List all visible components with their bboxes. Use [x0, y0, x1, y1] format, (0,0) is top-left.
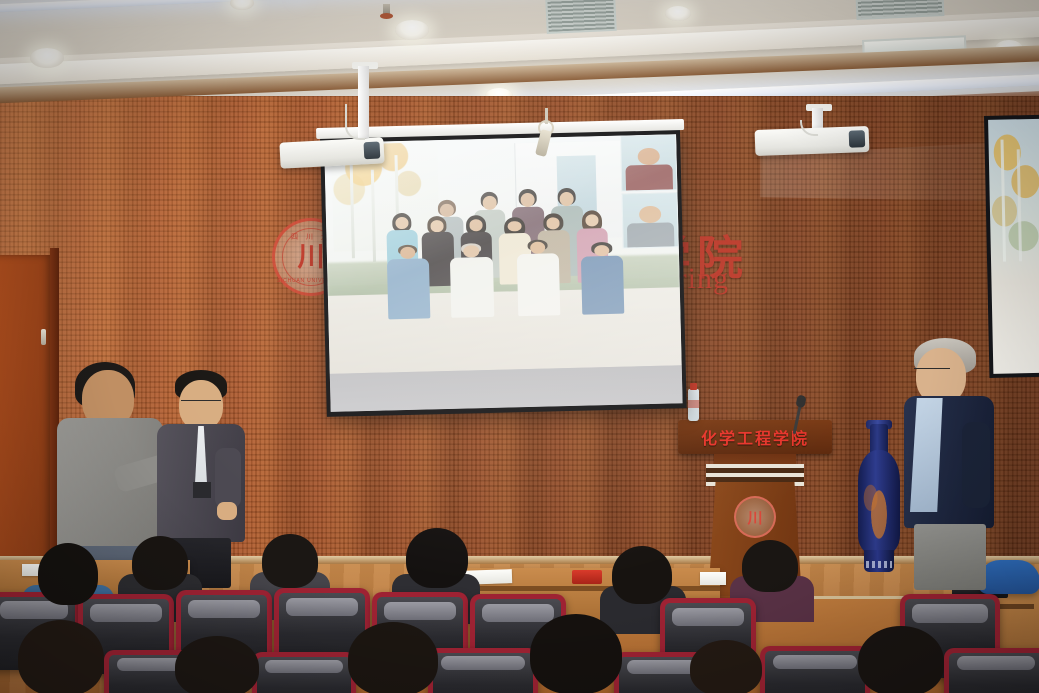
glasses-icon: [914, 368, 950, 373]
papers-on-desk[interactable]: [700, 572, 726, 585]
audience-member-head: [18, 620, 104, 693]
speaker-navy-blazer: [900, 338, 996, 590]
lecture-hall-photo: 四 川 大 川 SICHUAN UNIVERSITY 学院 eering: [0, 0, 1039, 693]
seat-headrest: [672, 608, 744, 626]
speaker-belt: [193, 482, 211, 498]
seat-headrest: [384, 602, 456, 620]
projector-lens: [363, 142, 380, 160]
slide-foliage: [1009, 220, 1039, 251]
seat-headrest: [912, 604, 988, 623]
podium-sign: 化学工程学院: [678, 420, 832, 454]
screen-surface: [324, 134, 682, 412]
seat-back: [760, 646, 870, 693]
slide-lower-blank-area: [330, 366, 683, 412]
seat-headrest: [188, 600, 260, 618]
seat-back: [944, 648, 1039, 693]
seat-headrest: [265, 660, 344, 673]
door-handle[interactable]: [41, 329, 46, 345]
podium-seal-glyph: 川: [747, 507, 762, 528]
speaker-arm-in-pocket: [962, 422, 990, 508]
auditorium-seat[interactable]: [428, 648, 538, 693]
audience-member-head: [175, 636, 259, 693]
audience-member-head: [530, 614, 622, 693]
blue-porcelain-vase: [855, 424, 903, 582]
auditorium-seat[interactable]: [760, 646, 870, 693]
projector-left: [279, 137, 384, 168]
audience-member-head: [132, 536, 188, 590]
speaker-head: [179, 380, 223, 430]
red-book-on-desk[interactable]: [572, 570, 602, 584]
seat-headrest: [957, 656, 1036, 670]
seat-headrest: [441, 656, 525, 670]
seat-headrest: [286, 598, 358, 616]
slide-group-photo: [324, 134, 682, 374]
speaker-hand: [217, 502, 237, 520]
auditorium-seat[interactable]: [252, 652, 356, 693]
downlight: [665, 6, 691, 21]
seat-headrest: [482, 604, 554, 622]
speaker-legs-trousers: [914, 524, 986, 590]
water-bottle[interactable]: [688, 389, 699, 421]
speaker-arm: [215, 448, 241, 508]
seat-headrest: [773, 655, 857, 669]
audience-member-head: [858, 626, 944, 693]
downlight: [395, 20, 429, 40]
downlight: [30, 48, 64, 68]
screen-surface-secondary: [988, 119, 1039, 374]
sprinkler-head: [383, 4, 390, 18]
auditorium-seat[interactable]: [944, 648, 1039, 693]
audience-member-head: [38, 543, 98, 605]
glasses-icon: [181, 400, 221, 405]
hall-door[interactable]: [0, 255, 56, 585]
sichuan-university-seal-podium: 川: [734, 496, 776, 538]
projector-cable: [345, 104, 365, 140]
vase-body: [858, 450, 900, 554]
seat-back: [252, 652, 356, 693]
projection-screen-main: [320, 128, 687, 417]
projector-washout: [324, 134, 682, 374]
projector-lens: [849, 130, 866, 148]
audience-member-head: [348, 622, 438, 693]
seat-back: [428, 648, 538, 693]
slide-foliage: [1011, 165, 1039, 199]
audience-member-head: [612, 546, 672, 604]
audience-member-head: [742, 540, 798, 592]
audience-member-head: [690, 640, 762, 693]
audience-member-head: [262, 534, 318, 588]
vase-foot: [864, 550, 894, 572]
seat-headrest: [90, 604, 162, 622]
hvac-vent: [545, 0, 617, 34]
audience-member-head: [406, 528, 468, 588]
